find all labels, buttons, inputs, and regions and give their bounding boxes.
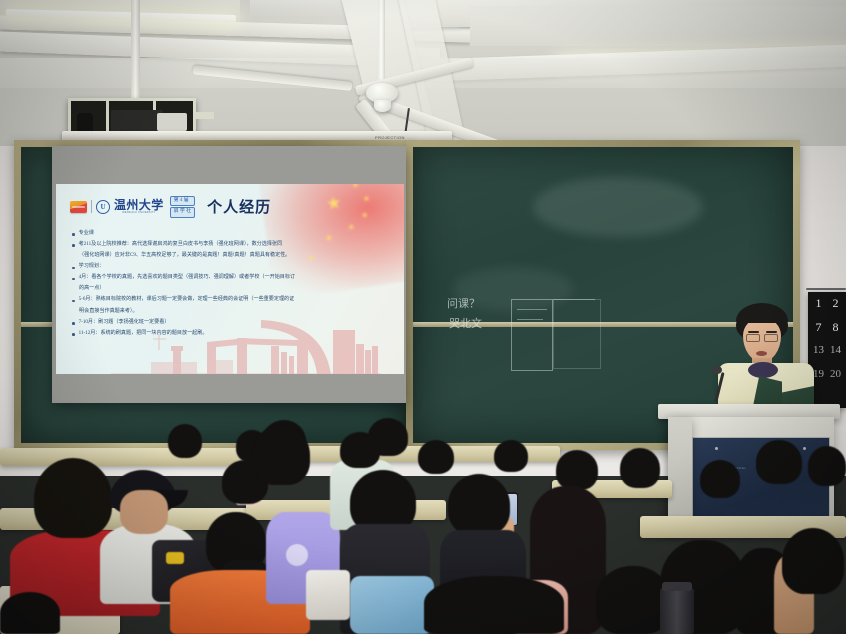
bullet-text: 的高一点） <box>72 285 104 293</box>
cage-latch <box>196 112 214 119</box>
student-head <box>120 490 168 534</box>
shirt-print <box>286 544 308 566</box>
header-chip-line1: 第 4 届 <box>170 196 196 206</box>
student-head <box>424 576 564 634</box>
calendar-cell: 7 <box>810 320 827 344</box>
student-head <box>782 528 844 594</box>
bullet-text: 考211及以上院校推荐：高代选择谢启鸿的复旦白皮书与李扬（强化班网课），数分选择… <box>79 241 283 249</box>
student-head <box>0 592 60 634</box>
bullet-text: 4月：看各个学校的真题，先选喜欢的题目类型（强调技巧、强调理解）或者学校（一开始… <box>79 274 296 282</box>
student-head <box>494 440 528 472</box>
student-head <box>808 446 846 486</box>
student-head <box>556 450 598 490</box>
slide-header: U 温州大学 WENZHOU UNIVERSITY 第 4 届 启 学 社 个人… <box>70 196 271 218</box>
student-head <box>620 448 660 488</box>
table-row: 7 8 <box>810 320 844 344</box>
chalk-note-1: 问课？ <box>447 295 480 311</box>
student-head <box>168 424 202 458</box>
student-head <box>340 432 380 468</box>
bullet-text: 明会直接当作真题来考）。 <box>72 308 138 316</box>
chalk-diagram-box-2 <box>553 299 601 369</box>
calendar-cell: 2 <box>827 296 844 320</box>
list-item: 的高一点） <box>72 285 390 293</box>
microphone-head <box>712 366 722 374</box>
bullet-text: 5-6月：熟练目标院校的教材，课后习题一定要会做，定理一些经典的会证明（一些重要… <box>79 296 295 304</box>
bottle-cap <box>662 582 692 591</box>
calendar-cell: 8 <box>827 320 844 344</box>
backpack-logo <box>166 552 184 564</box>
student-head <box>756 440 802 484</box>
list-item: 明会直接当作真题来考）。 <box>72 308 390 316</box>
bullet-dot <box>72 278 75 281</box>
lecture-hall-photo: PROJECTION 问课？ 哭北文 ★ ★ ★ ★ <box>0 0 846 634</box>
chalk-note-2: 哭北文 <box>449 315 482 331</box>
fan-mount-rod <box>378 0 385 88</box>
student-head <box>596 566 670 634</box>
student-head <box>448 474 510 536</box>
student-head <box>418 440 454 474</box>
bullet-text: （强化班网课）应对非C9、华五高校足够了，最关键的是真题！真题!真题！真题具有稳… <box>72 252 290 260</box>
calendar-hook <box>806 288 846 290</box>
calendar-cell: 20 <box>827 368 844 392</box>
student-head <box>34 458 112 538</box>
list-item: 考211及以上院校推荐：高代选择谢启鸿的复旦白皮书与李扬（强化班网课），数分选择… <box>72 241 390 249</box>
list-item: 5-6月：熟练目标院校的教材，课后习题一定要会做，定理一些经典的会证明（一些重要… <box>72 296 390 304</box>
header-divider <box>91 200 92 213</box>
table-row: 13 14 <box>810 344 844 368</box>
list-item: 4月：看各个学校的真题，先选喜欢的题目类型（强调技巧、强调理解）或者学校（一开始… <box>72 274 390 282</box>
list-item: （强化班网课）应对非C9、华五高校足够了，最关键的是真题！真题!真题！真题具有稳… <box>72 252 390 260</box>
table-row: 1 2 <box>810 296 844 320</box>
city-skyline-illustration <box>111 316 381 374</box>
presentation-slide: ★ ★ ★ ★ ★ ★ ★ U 温州大学 WENZHOU UNIVERSITY … <box>56 184 404 374</box>
bullet-text: 学习规划： <box>79 263 104 271</box>
university-seal-icon: U <box>96 200 110 214</box>
book-logo-icon <box>70 201 87 213</box>
bullet-dot <box>72 322 75 325</box>
calendar-cell: 14 <box>827 344 844 368</box>
bullet-dot <box>72 333 75 336</box>
student-head <box>252 425 310 485</box>
table-row: 19 20 <box>810 368 844 392</box>
list-item: 专业课 <box>72 230 390 238</box>
projector-mount-pipe <box>131 0 140 100</box>
slide-title: 个人经历 <box>207 196 271 217</box>
white-bag <box>306 570 350 620</box>
university-name-en: WENZHOU UNIVERSITY <box>122 212 155 215</box>
university-name-cn: 温州大学 <box>114 199 164 211</box>
bullet-text: 专业课 <box>79 230 94 238</box>
blue-cloth <box>350 576 434 634</box>
list-item: 学习规划： <box>72 263 390 271</box>
bullet-dot <box>72 267 75 270</box>
calendar-cell: 13 <box>810 344 827 368</box>
calendar-cell: 1 <box>810 296 827 320</box>
header-chip-line2: 启 学 社 <box>170 207 196 217</box>
bullet-dot <box>72 244 75 247</box>
bullet-dot <box>72 300 75 303</box>
bullet-dot <box>72 233 75 236</box>
lectern-side <box>668 417 692 527</box>
student-head <box>700 460 740 498</box>
water-bottle[interactable] <box>660 588 694 634</box>
